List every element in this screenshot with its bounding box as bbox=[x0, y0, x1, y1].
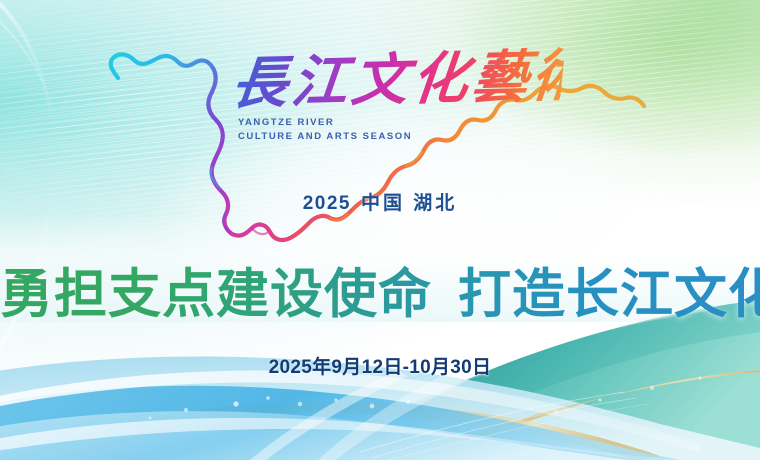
english-subtitle: YANGTZE RIVER CULTURE AND ARTS SEASON bbox=[238, 116, 412, 143]
calligraphy-title: 長江文化藝術季 bbox=[228, 40, 566, 120]
year-text: 2025 bbox=[303, 193, 351, 214]
event-date-range: 2025年9月12日-10月30日 bbox=[0, 352, 760, 379]
year-location-line: 2025中国 湖北 bbox=[0, 188, 760, 215]
headline-phrase-2: 打造长江文化高地 bbox=[458, 264, 760, 325]
poster-banner: 長江文化藝術季 YANGTZE RIVER CULTURE AND ARTS S… bbox=[0, 0, 760, 460]
headline-phrase-1: 勇担支点建设使命 bbox=[0, 264, 432, 325]
location-text: 中国 湖北 bbox=[361, 193, 457, 214]
main-headline: 勇担支点建设使命打造长江文化高地 bbox=[0, 262, 760, 328]
